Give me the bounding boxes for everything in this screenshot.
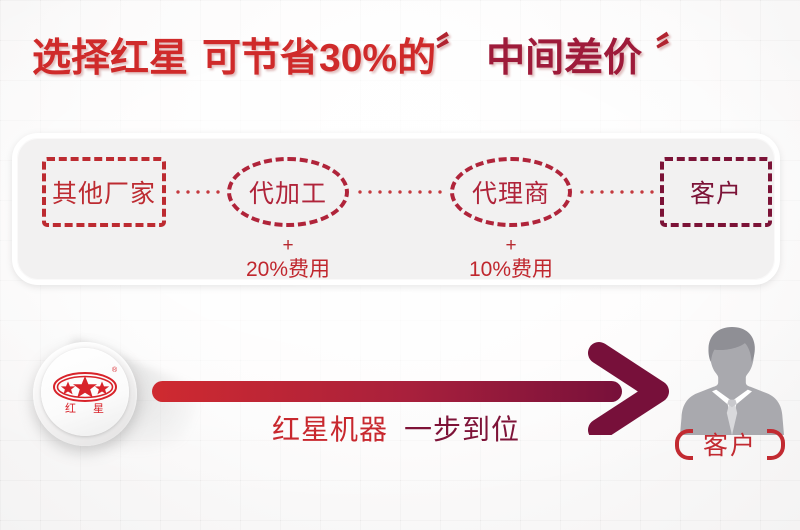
bracket-right-icon xyxy=(767,429,785,460)
connector-dots-3 xyxy=(577,190,657,194)
title-part-1: 选择红星 xyxy=(32,37,188,80)
quote-close-mark: 〞 xyxy=(655,27,693,79)
bottom-slogan: 红星机器一步到位 xyxy=(272,408,520,448)
bracket-left-icon xyxy=(675,429,693,460)
flow-node-label: 代理商 xyxy=(472,174,550,210)
flow-node-oem: 代加工 xyxy=(227,157,349,227)
flow-node-customer: 客户 xyxy=(660,157,772,227)
flow-node-other-factory: 其他厂家 xyxy=(42,157,166,227)
fee-plus-sign: + xyxy=(431,235,591,257)
middleman-flow-panel: 其他厂家 代加工 代理商 客户 + 20%费用 + 10%费用 xyxy=(12,133,780,285)
fee-annotation-oem: + 20%费用 xyxy=(208,235,368,281)
customer-avatar-icon xyxy=(676,325,788,435)
flow-node-label: 其他厂家 xyxy=(52,174,156,210)
fee-annotation-agent: + 10%费用 xyxy=(431,235,591,281)
poster-canvas: 选择红星可节省30%的〞中间差价〞 其他厂家 代加工 代理商 客户 + 20%费… xyxy=(0,0,800,530)
svg-text:红: 红 xyxy=(65,402,76,415)
customer-label-group: 客户 xyxy=(655,426,800,462)
slogan-claim: 一步到位 xyxy=(404,414,520,445)
slogan-brand: 红星机器 xyxy=(272,414,388,445)
connector-dots-1 xyxy=(173,190,223,194)
connector-dots-2 xyxy=(355,190,447,194)
fee-plus-sign: + xyxy=(208,235,368,257)
quote-open-mark: 〞 xyxy=(435,27,473,79)
fee-amount: 10%费用 xyxy=(469,258,553,281)
brand-logo-badge: ® 红 星 xyxy=(33,342,137,446)
title-highlight: 中间差价 xyxy=(486,37,642,80)
flow-node-label: 客户 xyxy=(690,174,742,210)
svg-text:星: 星 xyxy=(93,402,104,415)
fee-amount: 20%费用 xyxy=(246,258,330,281)
customer-label-text: 客户 xyxy=(703,426,757,462)
hongxing-star-logo-icon: ® 红 星 xyxy=(41,348,129,436)
brand-logo-inner-disc: ® 红 星 xyxy=(41,348,129,436)
flow-node-agent: 代理商 xyxy=(450,157,572,227)
svg-text:®: ® xyxy=(112,366,118,374)
flow-node-label: 代加工 xyxy=(249,174,327,210)
page-title: 选择红星可节省30%的〞中间差价〞 xyxy=(32,33,692,85)
title-part-2: 可节省30%的 xyxy=(202,37,436,80)
